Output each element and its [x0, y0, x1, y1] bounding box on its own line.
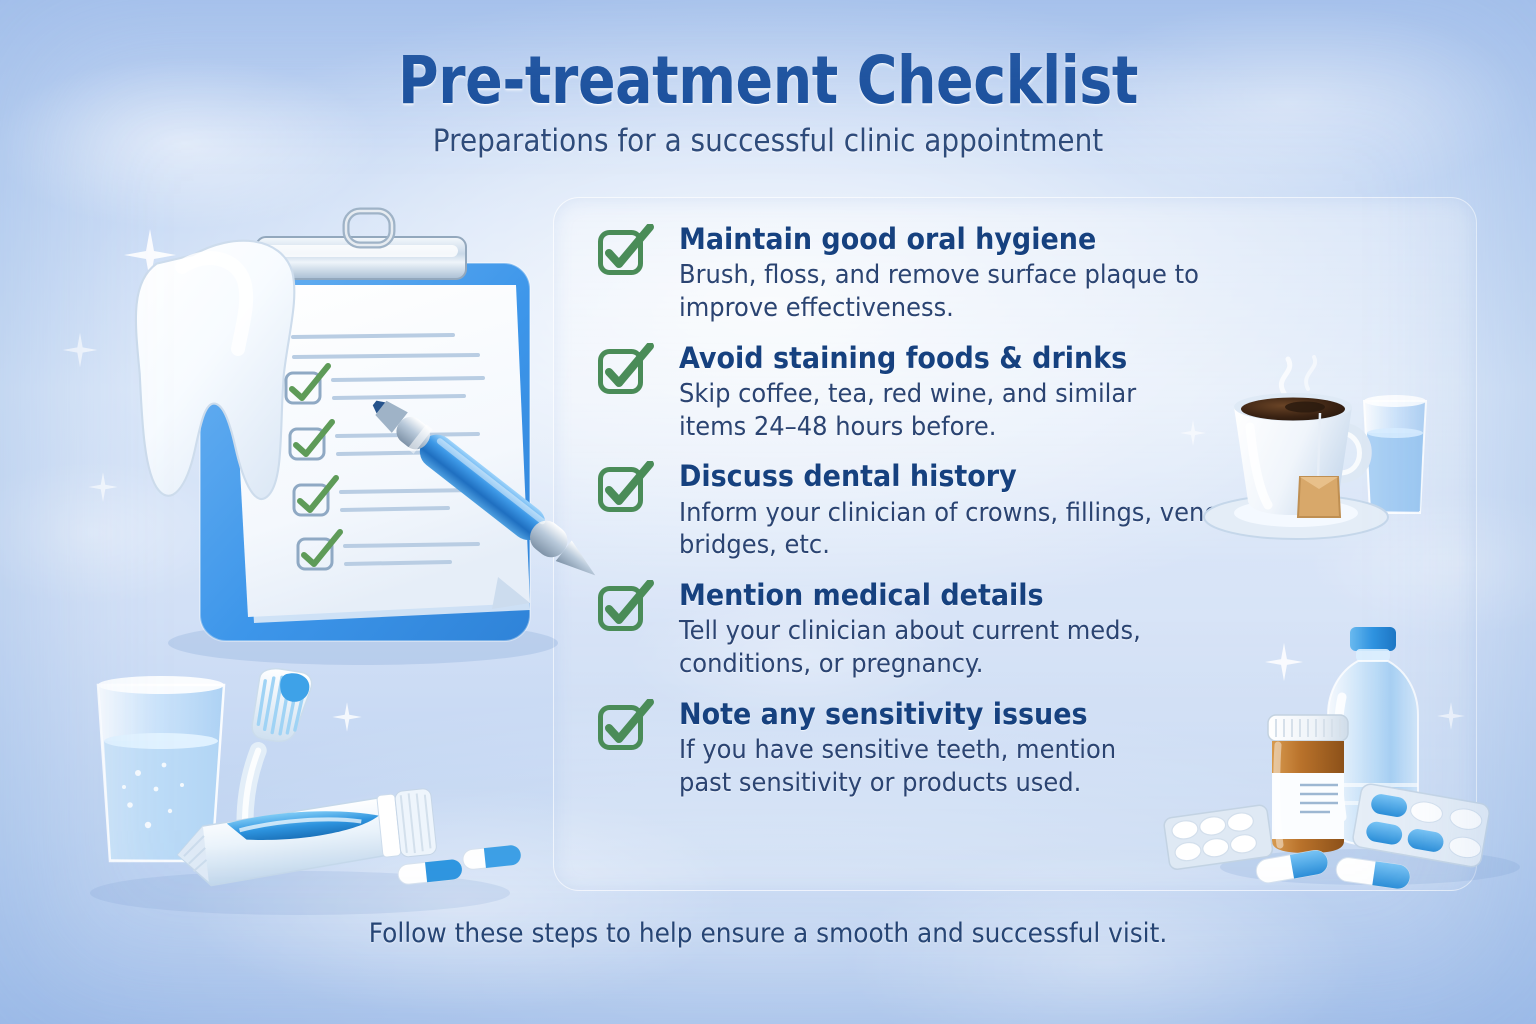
sparkle-icon: [60, 330, 100, 370]
checklist-item-heading: Avoid staining foods & drinks: [679, 341, 1393, 375]
checklist-item-description: Tell your clinician about current meds, …: [679, 615, 1393, 681]
checkbox-checked-icon[interactable]: [597, 461, 655, 513]
sparkle-icon: [330, 700, 364, 734]
checklist-item[interactable]: Note any sensitivity issues If you have …: [597, 697, 1447, 800]
checklist-item-heading: Mention medical details: [679, 578, 1393, 612]
checklist-item-description: Skip coffee, tea, red wine, and similar …: [679, 378, 1393, 444]
checkbox-checked-icon[interactable]: [597, 224, 655, 276]
checklist: Maintain good oral hygiene Brush, floss,…: [597, 222, 1447, 816]
checklist-item-description: Brush, floss, and remove surface plaque …: [679, 259, 1393, 325]
checklist-item[interactable]: Discuss dental history Inform your clini…: [597, 459, 1447, 562]
infographic-canvas: Pre-treatment Checklist Preparations for…: [0, 0, 1536, 1024]
checklist-item-description: Inform your clinician of crowns, filling…: [679, 497, 1393, 563]
checklist-item[interactable]: Avoid staining foods & drinks Skip coffe…: [597, 341, 1447, 444]
checklist-item-heading: Note any sensitivity issues: [679, 697, 1393, 731]
footer-note: Follow these steps to help ensure a smoo…: [61, 918, 1474, 949]
page-title: Pre-treatment Checklist: [123, 46, 1413, 115]
checklist-item-heading: Maintain good oral hygiene: [679, 222, 1393, 256]
checkbox-checked-icon[interactable]: [597, 580, 655, 632]
page-subtitle: Preparations for a successful clinic app…: [77, 123, 1459, 159]
tooth-clipboard-pen-illustration: [78, 205, 618, 675]
checklist-item[interactable]: Mention medical details Tell your clinic…: [597, 578, 1447, 681]
checklist-item[interactable]: Maintain good oral hygiene Brush, floss,…: [597, 222, 1447, 325]
toothbrush-toothpaste-glass-illustration: [60, 655, 540, 925]
checkbox-checked-icon[interactable]: [597, 699, 655, 751]
sparkle-icon: [120, 225, 180, 285]
checkbox-checked-icon[interactable]: [597, 343, 655, 395]
checklist-item-heading: Discuss dental history: [679, 459, 1393, 493]
checklist-item-description: If you have sensitive teeth, mention pas…: [679, 734, 1393, 800]
sparkle-icon: [86, 470, 120, 504]
page-header: Pre-treatment Checklist Preparations for…: [0, 46, 1536, 159]
